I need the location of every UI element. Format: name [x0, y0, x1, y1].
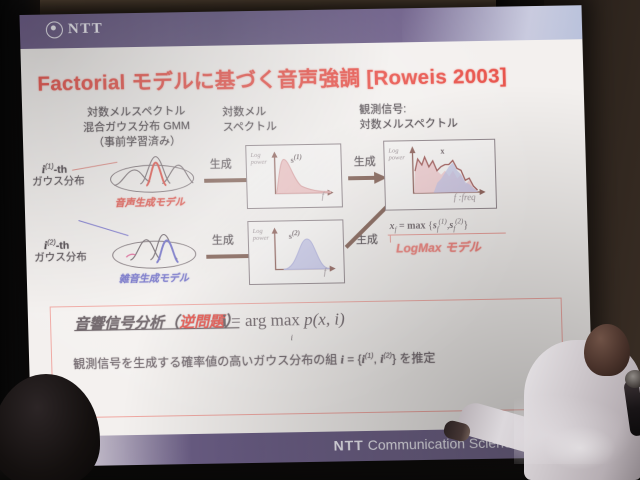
observed-arrow-label-top: 生成 [353, 153, 375, 169]
row1-arrow-label: 生成 [209, 155, 231, 171]
row1-model-name: 音声生成モデル [115, 196, 185, 210]
analysis-eq-equals: = [231, 311, 241, 330]
analysis-title: 音響信号分析（逆問題） [74, 313, 240, 333]
header-glare [401, 5, 582, 42]
analysis-eq-argmax-sub: i [290, 332, 293, 342]
row2-gmm-peaks-icon [111, 226, 198, 271]
row1-gauss-label-line2: ガウス分布 [32, 175, 85, 189]
logmax-equation: xf = max {sf(1)f,sf(2)} [389, 217, 468, 234]
presenter-head [584, 324, 630, 376]
row1-gmm-illustration [109, 150, 196, 195]
middle-heading-line-1: 対数メル [222, 105, 277, 121]
middle-heading-line-2: スペクトル [223, 120, 278, 136]
ntt-eye-logo-icon [46, 21, 63, 38]
observed-plot-box: Log power x f :fre [383, 139, 497, 211]
row1-index-suffix: -th [54, 164, 68, 176]
analysis-title-paren-open: （ [164, 314, 179, 331]
row2-gauss-label-line2: ガウス分布 [34, 251, 87, 265]
analysis-eq-rhs: p(x, i) [304, 309, 345, 329]
presenter-microphone-head [625, 370, 640, 388]
analysis-equation: i = arg max p(x, i) [222, 309, 345, 331]
analysis-eq-argmax: arg max [245, 310, 300, 330]
row1-plot-box: Log power s(1) f [245, 143, 343, 209]
right-column-heading: 観測信号: 対数メルスペクトル [359, 101, 458, 133]
analysis-explanation-post: } を推定 [392, 351, 436, 366]
ntt-logo: NTT [46, 21, 104, 39]
logmax-arg2-sub: f [453, 225, 455, 233]
logmax-brace-close: } [463, 220, 468, 231]
logmax-label: LogMax モデル [396, 241, 481, 255]
row1-plot-svg [246, 144, 342, 208]
right-heading-line-1: 観測信号: [359, 101, 458, 118]
analysis-title-row: 音響信号分析（逆問題） [74, 313, 240, 334]
logmax-operator: = max [399, 220, 426, 231]
page-title: Factorial モデルに基づく音声強調 [Roweis 2003] [37, 59, 507, 97]
right-heading-line-2: 対数メルスペクトル [359, 116, 458, 133]
row2-arrow-label: 生成 [212, 231, 234, 247]
logmax-arg2-sup: (2) [455, 217, 463, 225]
observed-arrow-top-icon [348, 171, 388, 186]
left-column-heading: 対数メルスペクトル 混合ガウス分布 GMM （事前学習済み） [46, 103, 227, 151]
analysis-title-highlight: 逆問題 [179, 313, 224, 331]
logmax-arg1-sub: f [437, 225, 439, 233]
row2-plot-box: Log power s(2) f [247, 219, 345, 285]
row2-index-suffix: -th [56, 240, 70, 252]
observed-x-axis-label: f :freq [454, 194, 476, 201]
observed-plot-svg [384, 140, 496, 210]
row2-index-sup: (2) [47, 239, 56, 246]
row2-model-name: 雑音生成モデル [119, 272, 189, 286]
left-heading-line-3: （事前学習済み） [47, 133, 227, 151]
analysis-explanation-eq: = { [344, 352, 362, 366]
row1-gmm-peaks-icon [109, 150, 196, 195]
analysis-title-main: 音響信号分析 [74, 315, 164, 334]
logmax-tick [390, 235, 391, 243]
row1-index-sup: (1) [45, 163, 54, 170]
middle-column-heading: 対数メル スペクトル [222, 105, 277, 136]
projector-light-spill [514, 394, 634, 464]
row2-x-axis-label: f [324, 269, 327, 276]
analysis-explanation-i2-sup: (2) [383, 353, 392, 360]
footer-brand: NTT [333, 437, 364, 454]
ntt-logo-text: NTT [68, 21, 104, 39]
row2-gmm-illustration [111, 226, 198, 271]
row2-plot-svg [248, 220, 344, 284]
photo-canvas: NTT Factorial モデルに基づく音声強調 [Roweis 2003] … [0, 0, 640, 480]
row1-x-axis-label: f [322, 193, 325, 200]
analysis-eq-lhs: i [222, 311, 227, 330]
logmax-lhs-sub: f [395, 226, 397, 234]
